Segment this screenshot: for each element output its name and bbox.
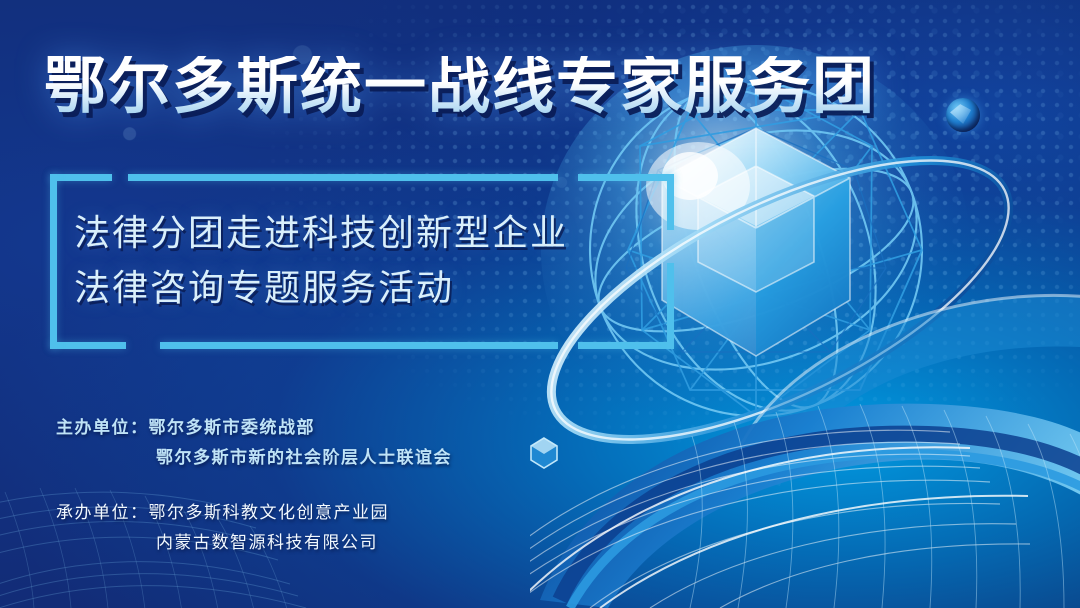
subtitle-line-2: 法律咨询专题服务活动 [74, 261, 674, 316]
frame-bottom-left-segment [50, 342, 126, 349]
credits-section: 主办单位：鄂尔多斯市委统战部 鄂尔多斯市新的社会阶层人士联谊会 承办单位：鄂尔多… [56, 413, 452, 582]
host-credit-block: 主办单位：鄂尔多斯市委统战部 鄂尔多斯市新的社会阶层人士联谊会 [56, 413, 452, 474]
frame-left-edge [50, 174, 57, 349]
organizer-credit-line-2: 内蒙古数智源科技有限公司 [56, 528, 452, 558]
organizer-credit-line-1: 承办单位：鄂尔多斯科教文化创意产业园 [56, 498, 452, 528]
frame-bottom-right-segment [578, 342, 674, 349]
page-title: 鄂尔多斯统一战线专家服务团 [44, 56, 876, 118]
frame-top-left-segment [50, 174, 112, 181]
frame-top-right-segment [578, 174, 674, 181]
subtitle-line-1: 法律分团走进科技创新型企业 [74, 206, 674, 261]
host-credit-line-2: 鄂尔多斯市新的社会阶层人士联谊会 [56, 443, 452, 473]
poster-canvas: 鄂尔多斯统一战线专家服务团 法律分团走进科技创新型企业 法律咨询专题服务活动 主… [0, 0, 1080, 608]
frame-bottom-mid-segment [160, 342, 558, 349]
frame-top-mid-segment [128, 174, 558, 181]
faceted-sphere-icon [946, 98, 980, 132]
host-credit-line-1: 主办单位：鄂尔多斯市委统战部 [56, 413, 452, 443]
organizer-credit-block: 承办单位：鄂尔多斯科教文化创意产业园 内蒙古数智源科技有限公司 [56, 498, 452, 559]
event-subtitle: 法律分团走进科技创新型企业 法律咨询专题服务活动 [74, 206, 674, 315]
